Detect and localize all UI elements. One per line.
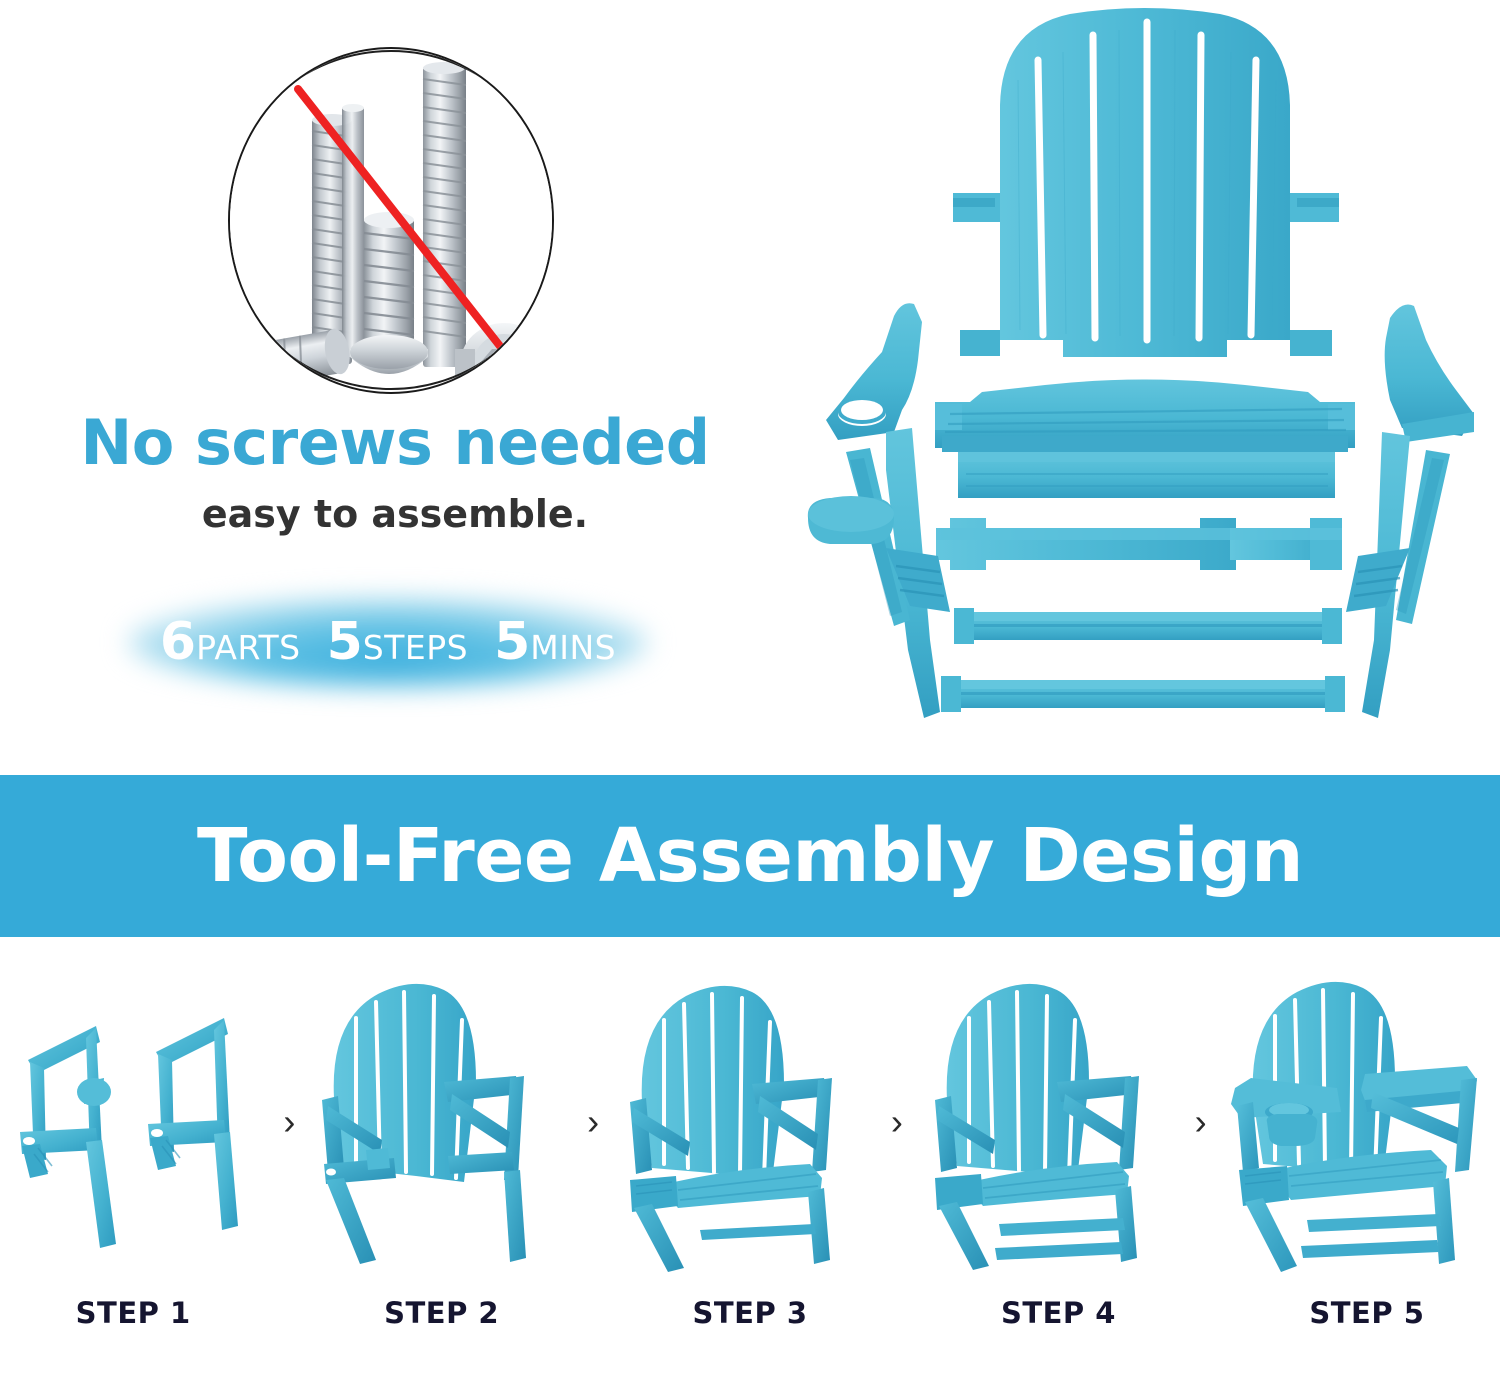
part-left-side-frame [808, 303, 950, 718]
stat-parts: 6 PARTS [160, 616, 301, 668]
part-upper-rail [954, 608, 1342, 644]
part-lower-rail [941, 676, 1345, 712]
top-section: No screws needed easy to assemble. 6 PAR… [0, 0, 1500, 775]
stat-steps: 5 STEPS [327, 616, 469, 668]
step-labels-row: STEP 1 STEP 2 STEP 3 STEP 4 STEP 5 [0, 1299, 1500, 1328]
stat-steps-number: 5 [327, 616, 363, 668]
step-arrow-4-5: › [1186, 962, 1215, 1282]
stat-parts-unit: PARTS [196, 631, 301, 664]
stat-mins-unit: MINS [530, 631, 616, 664]
step-arrow-3-4: › [883, 962, 912, 1282]
part-backrest [953, 8, 1339, 357]
stat-mins: 5 MINS [494, 616, 616, 668]
no-screws-circle-icon [228, 47, 554, 394]
steps-illustrations-row: › [0, 962, 1500, 1282]
step-arrow-2-3: › [579, 962, 608, 1282]
stat-parts-number: 6 [160, 616, 196, 668]
step-1-illustration [0, 962, 275, 1282]
step-label-1: STEP 1 [0, 1299, 266, 1328]
stat-mins-number: 5 [494, 616, 530, 668]
section-banner: Tool-Free Assembly Design [0, 775, 1500, 937]
part-crossbar [936, 518, 1250, 570]
step-5-illustration [1215, 962, 1500, 1282]
page-subtitle: easy to assemble. [0, 495, 790, 533]
stats-badge: 6 PARTS 5 STEPS 5 MINS [108, 592, 668, 692]
stat-steps-unit: STEPS [363, 631, 468, 664]
part-seat [935, 380, 1355, 499]
step-label-4: STEP 4 [925, 1299, 1191, 1328]
part-crossbar-extension [1230, 518, 1342, 570]
step-2-illustration [304, 962, 579, 1282]
step-label-3: STEP 3 [617, 1299, 883, 1328]
step-label-5: STEP 5 [1234, 1299, 1500, 1328]
page-title: No screws needed [0, 412, 790, 474]
step-4-illustration [911, 962, 1186, 1282]
stats-text-group: 6 PARTS 5 STEPS 5 MINS [108, 592, 668, 692]
step-arrow-1-2: › [275, 962, 304, 1282]
step-label-2: STEP 2 [308, 1299, 574, 1328]
banner-title: Tool-Free Assembly Design [197, 819, 1303, 893]
step-3-illustration [608, 962, 883, 1282]
assembly-steps-section: › [0, 937, 1500, 1379]
left-column: No screws needed easy to assemble. 6 PAR… [0, 0, 790, 775]
part-right-side-frame [1346, 305, 1474, 719]
exploded-chair-parts-icon [790, 0, 1500, 775]
